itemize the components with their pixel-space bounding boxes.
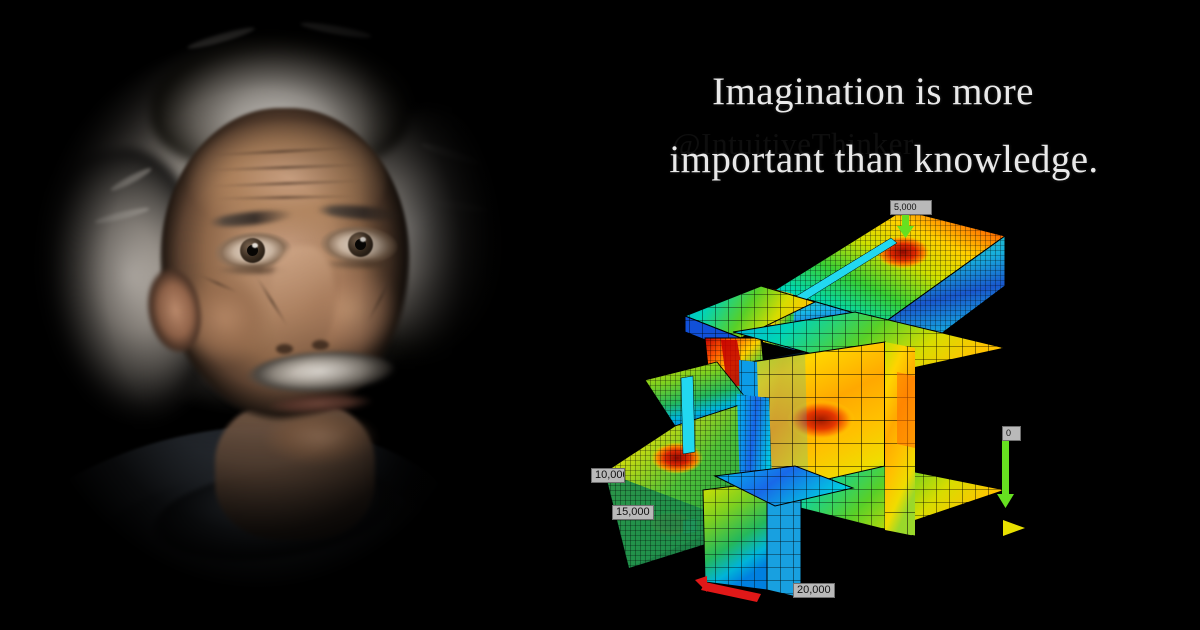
eye-glint-right	[360, 237, 366, 242]
poster-canvas: @IntuitiveThinker Imagination is more im…	[0, 0, 1200, 630]
load-arrow-right-icon	[1002, 432, 1009, 496]
portrait-figure	[0, 0, 560, 630]
fea-value-label-right: 0	[1002, 426, 1021, 441]
eye-glint-left	[252, 243, 258, 248]
einstein-portrait	[0, 0, 560, 630]
quote-block: Imagination is more important than knowl…	[560, 58, 1200, 194]
fea-value-label-20000: 20,000	[793, 583, 835, 598]
nostril-right	[312, 340, 329, 350]
reaction-arrow-right-icon	[1003, 520, 1025, 536]
chin	[262, 414, 378, 470]
under-eye-right	[322, 260, 398, 268]
fea-svg	[585, 190, 1025, 630]
quote-line-2: important than knowledge.	[568, 126, 1200, 194]
fea-value-label-10000: 10,000	[591, 468, 625, 483]
fea-value-label-15000: 15,000	[612, 505, 654, 520]
quote-line-1: Imagination is more	[546, 58, 1200, 126]
nostril-left	[276, 344, 293, 354]
fea-stress-visualization	[585, 190, 1025, 630]
fea-value-label-top: 5,000	[890, 200, 932, 215]
